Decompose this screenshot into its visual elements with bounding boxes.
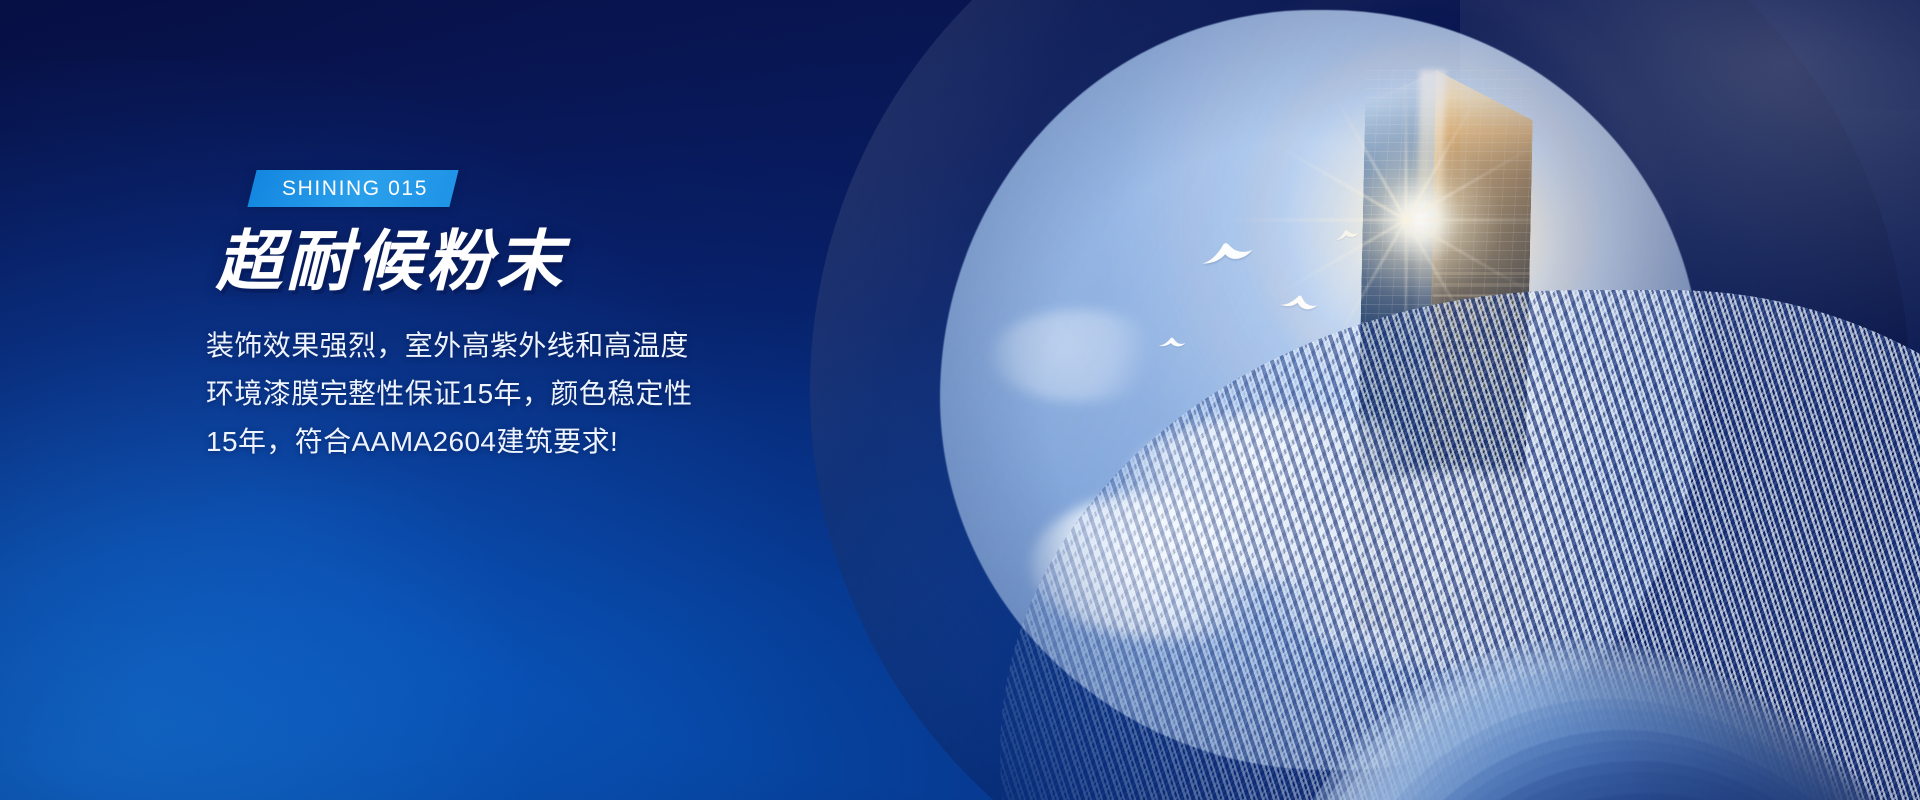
hero-banner: SHINING 015 超耐候粉末 装饰效果强烈，室外高紫外线和高温度 环境漆膜… xyxy=(0,0,1920,800)
banner-content: SHINING 015 超耐候粉末 装饰效果强烈，室外高紫外线和高温度 环境漆膜… xyxy=(200,170,840,466)
product-description: 装饰效果强烈，室外高紫外线和高温度 环境漆膜完整性保证15年，颜色稳定性 15年… xyxy=(206,322,840,466)
product-code-badge: SHINING 015 xyxy=(247,170,458,207)
page-title: 超耐候粉末 xyxy=(216,227,840,296)
description-line: 15年，符合AAMA2604建筑要求! xyxy=(206,418,840,466)
description-line: 装饰效果强烈，室外高紫外线和高温度 xyxy=(206,322,840,370)
product-code-label: SHINING 015 xyxy=(282,178,428,199)
description-line: 环境漆膜完整性保证15年，颜色稳定性 xyxy=(206,370,840,418)
